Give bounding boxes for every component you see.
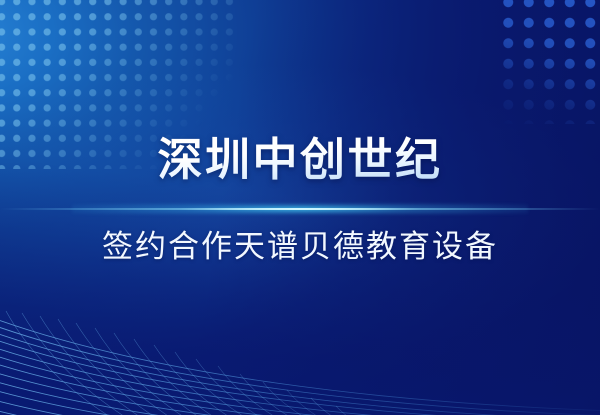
glowing-divider — [0, 203, 600, 215]
divider-core-highlight — [180, 208, 420, 210]
page-title: 深圳中创世纪 — [0, 131, 600, 189]
page-subtitle: 签约合作天谱贝德教育设备 — [0, 226, 600, 268]
promo-banner: 深圳中创世纪 签约合作天谱贝德教育设备 — [0, 0, 600, 415]
banner-text-block: 深圳中创世纪 签约合作天谱贝德教育设备 — [0, 131, 600, 268]
